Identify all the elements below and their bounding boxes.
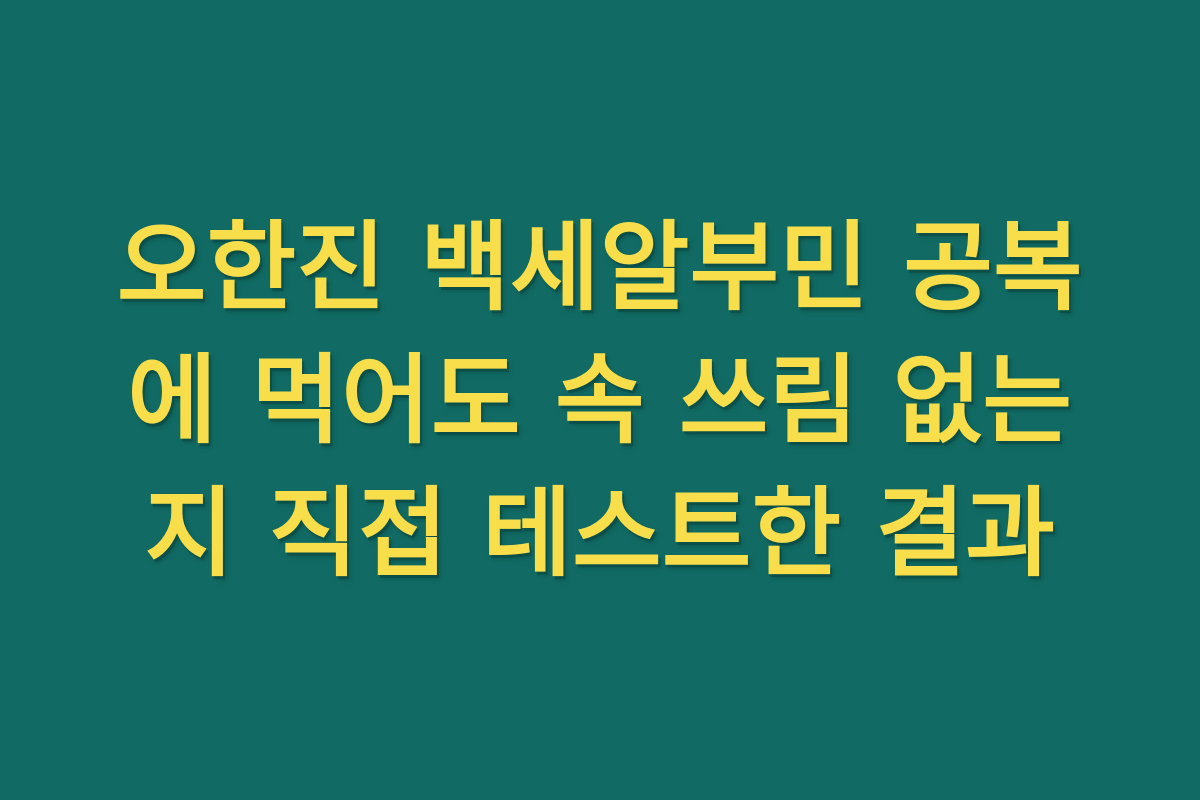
headline-line-1: 오한진 백세알부민 공복	[70, 201, 1130, 334]
headline-line-3: 지 직접 테스트한 결과	[70, 467, 1130, 600]
headline-line-2: 에 먹어도 속 쓰림 없는	[70, 334, 1130, 467]
headline-text: 오한진 백세알부민 공복 에 먹어도 속 쓰림 없는 지 직접 테스트한 결과	[70, 201, 1130, 600]
banner-canvas: 오한진 백세알부민 공복 에 먹어도 속 쓰림 없는 지 직접 테스트한 결과	[0, 0, 1200, 800]
